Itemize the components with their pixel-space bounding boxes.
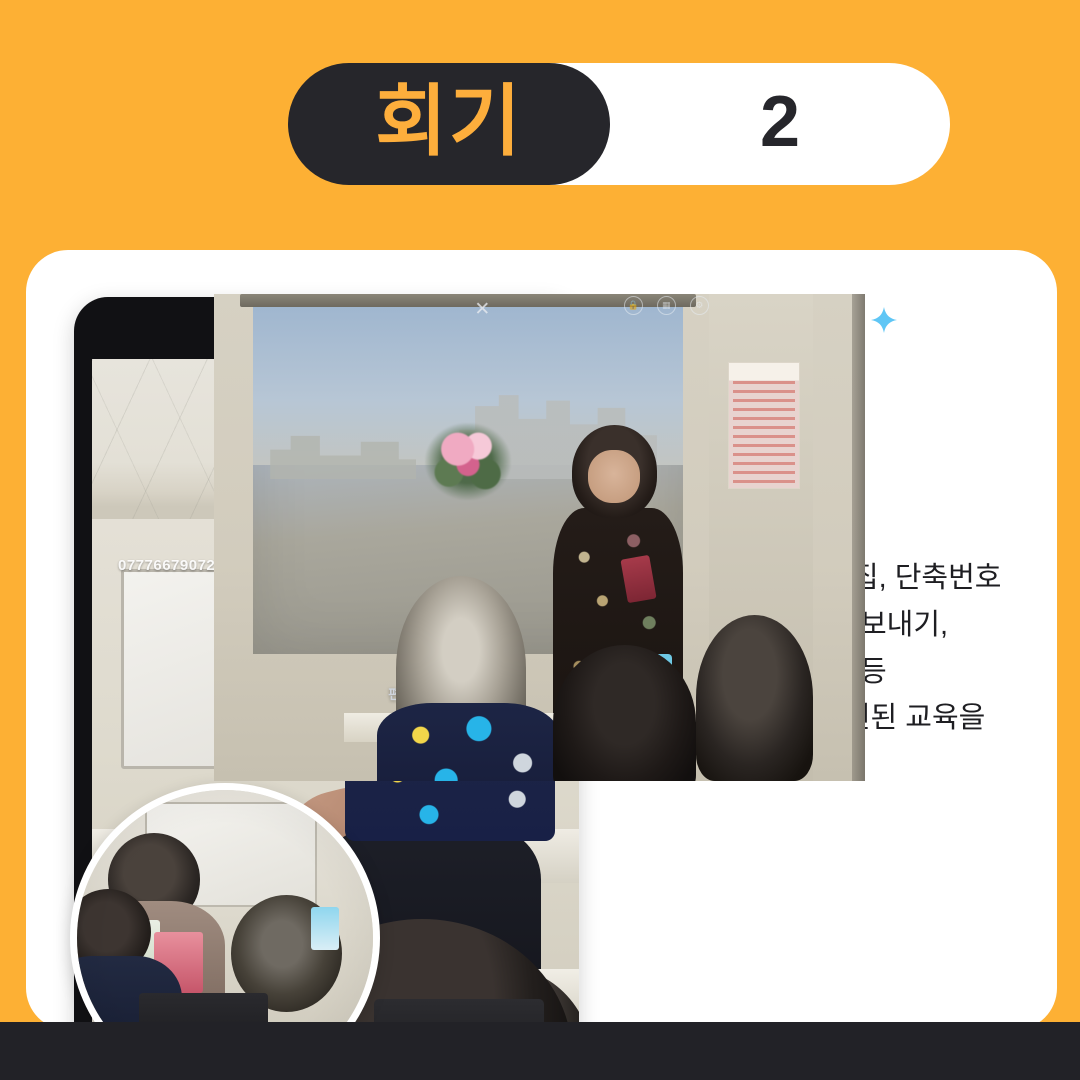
wall-poster <box>728 362 800 489</box>
bottom-bar <box>0 1022 1080 1080</box>
image-icon[interactable]: ▦ <box>657 296 676 315</box>
projected-flower-photo <box>425 423 511 500</box>
overlay-photo: ✕ 🔒 ▦ ⚙ 혜원 실행이 답이다 편집 핑 보내기 <box>214 294 865 781</box>
close-icon[interactable]: ✕ <box>474 300 490 319</box>
overlay-attendee-3 <box>696 615 813 781</box>
badge-number: 2 <box>610 61 950 183</box>
settings-icon[interactable]: ⚙ <box>690 296 709 315</box>
badge-label: 회기 <box>375 82 523 160</box>
overlay-edge-shadow <box>852 294 865 781</box>
sparkle-icon <box>870 306 898 334</box>
instructor-face <box>588 450 640 504</box>
inset-scene <box>71 784 379 1030</box>
overlay-top-icon-row: 🔒 ▦ ⚙ <box>624 296 709 315</box>
badge-dark-pill: 회기 <box>288 63 610 185</box>
inset-vignette <box>71 784 379 1030</box>
poster-text-lines <box>733 381 794 483</box>
overlay-attendee-1-body <box>377 703 559 781</box>
circular-inset-photo <box>70 783 380 1030</box>
lock-icon[interactable]: 🔒 <box>624 296 643 315</box>
poster-root: 회기 2 <box>0 0 1080 1080</box>
